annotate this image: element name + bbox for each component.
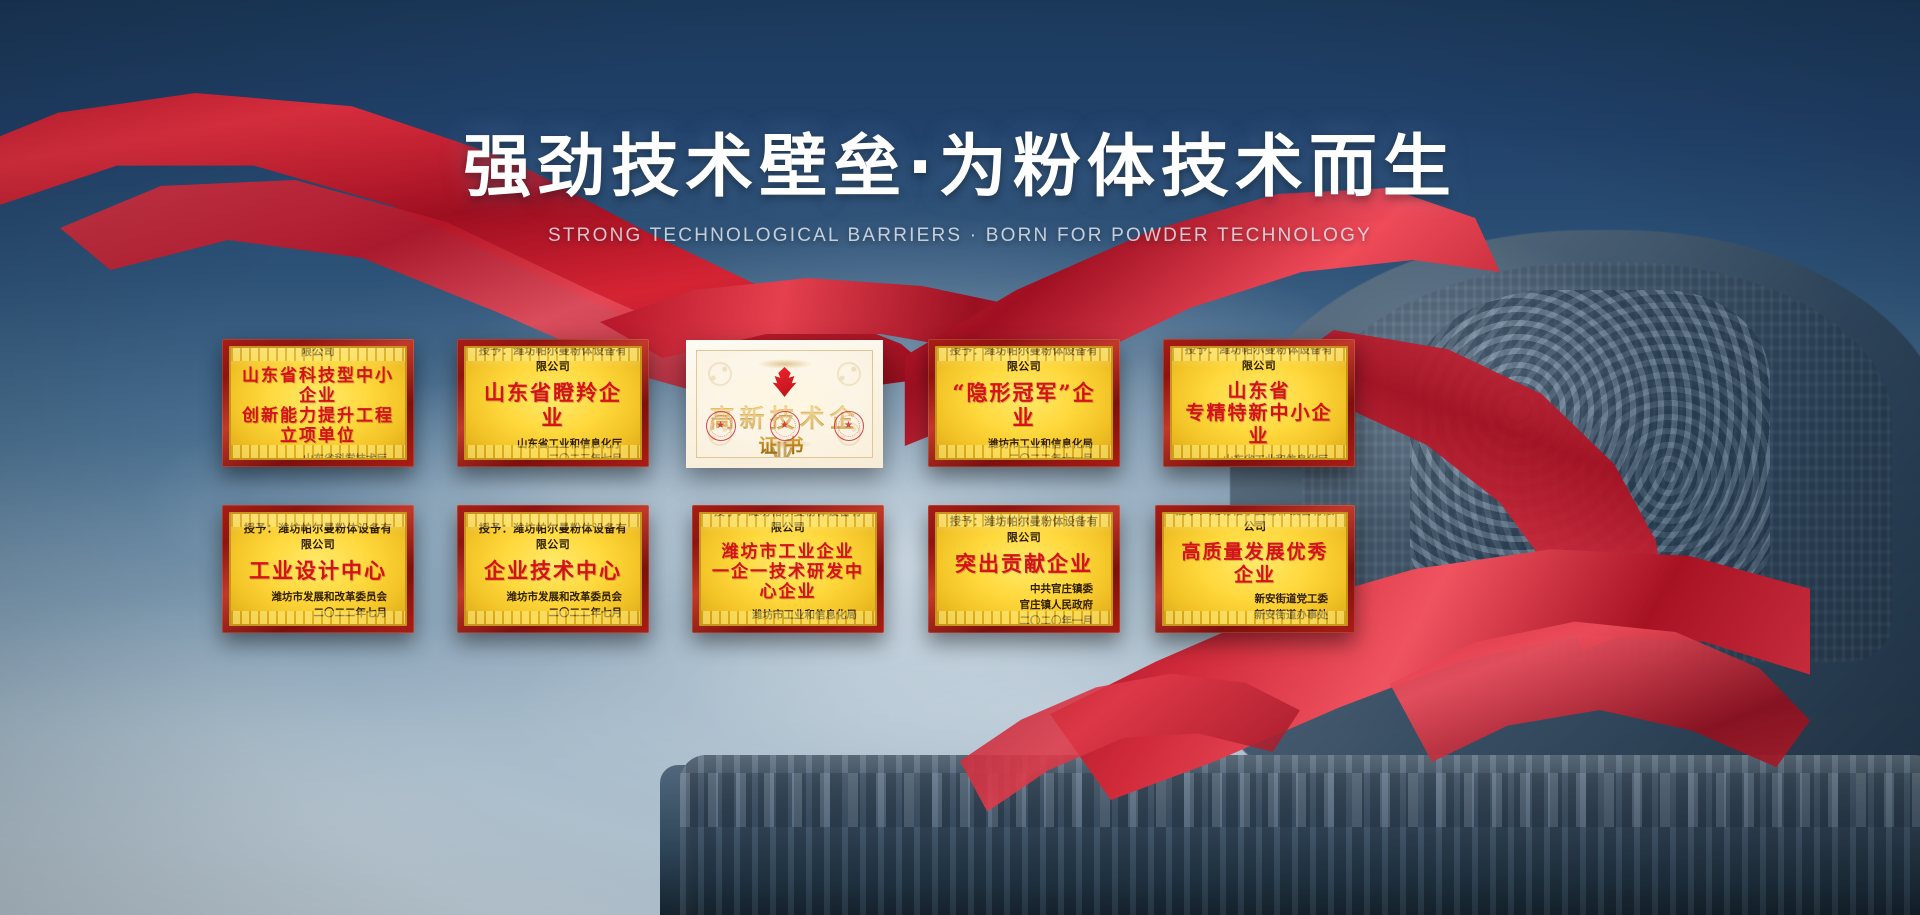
plaque-grant-line: 授予：潍坊帕尔曼粉体设备有限公司	[947, 513, 1101, 545]
plaque-footer: 山东省科学技术厅 二〇二二年十月	[241, 452, 395, 460]
award-plaque[interactable]: 授予：潍坊帕尔曼粉体设备有限公司 工业设计中心 潍坊市发展和改革委员会 二〇二二…	[222, 505, 414, 633]
award-plaque[interactable]: 授予：潍坊帕尔曼粉体设备有限公司 山东省瞪羚企业 山东省工业和信息化厅 二〇二三…	[457, 339, 649, 467]
plaque-title-line: 山东省科技型中小企业	[241, 366, 395, 406]
plaque-title: “隐形冠军”企业	[947, 381, 1101, 431]
plaque-issuer: 潍坊市工业和信息化局	[711, 608, 857, 624]
plaque-footer: 潍坊市工业和信息化局 二〇二二年十一月	[947, 437, 1101, 460]
plaque-date: 二〇二二年七月	[241, 606, 387, 622]
plaque-face: 授予：潍坊帕尔曼粉体设备有限公司 工业设计中心 潍坊市发展和改革委员会 二〇二二…	[229, 512, 407, 626]
plaque-date: 二〇二二年七月	[476, 606, 622, 622]
plaque-issuer: 潍坊市发展和改革委员会	[476, 590, 622, 606]
award-plaque[interactable]: 授予：潍坊帕尔曼粉体设备有限公司 潍坊市工业企业 一企一技术研发中心企业 潍坊市…	[692, 505, 884, 633]
plaque-footer: 山东省工业和信息化厅 二〇二三年七月	[476, 437, 630, 460]
plaque-issuer: 中共官庄镇委	[947, 582, 1093, 598]
plaque-footer: 潍坊市发展和改革委员会 二〇二二年七月	[241, 590, 395, 622]
plaque-date: 二〇二三年二月	[1174, 624, 1328, 626]
plaque-issuer: 潍坊市发展和改革委员会	[241, 590, 387, 606]
plaque-title-line: 山东省	[1182, 380, 1336, 402]
plaque-title-line: 工业设计中心	[241, 559, 395, 584]
plaque-footer: 中共官庄镇委 官庄镇人民政府 二〇二〇年一月	[947, 582, 1101, 626]
plaque-grant-line: 授予：潍坊帕尔曼粉体设备有限公司	[711, 512, 865, 535]
plaque-issuer: 官庄镇人民政府	[947, 598, 1093, 614]
award-plaque[interactable]: 授予：潍坊帕尔曼粉体设备有限公司 山东省 专精特新中小企业 山东省工业和信息化厅	[1163, 339, 1355, 467]
plaque-title: 高质量发展优秀企业	[1174, 541, 1336, 586]
plaque-issuer: 山东省工业和信息化厅	[1182, 453, 1328, 460]
plaque-footer: 山东省工业和信息化厅	[1182, 453, 1336, 460]
official-seal-icon	[770, 411, 800, 441]
plaque-title-line: 潍坊市工业企业	[711, 542, 865, 562]
plaque-grant-line: 授予：潍坊帕尔曼粉体设备有限公司	[1174, 512, 1336, 534]
plaque-face: 授予：潍坊帕尔曼粉体设备有限公司 突出贡献企业 中共官庄镇委 官庄镇人民政府 二…	[935, 512, 1113, 626]
plaque-grant-line: 授予：潍坊帕尔曼粉体设备有限公司	[947, 346, 1101, 374]
plaque-title: 山东省 专精特新中小企业	[1182, 380, 1336, 447]
corner-ornament-icon	[703, 357, 737, 391]
plaque-title: 山东省科技型中小企业 创新能力提升工程立项单位	[241, 366, 395, 446]
plaque-title-line: “隐形冠军”企业	[947, 381, 1101, 431]
plaque-title-line: 企业技术中心	[476, 559, 630, 584]
plaque-title-line: 创新能力提升工程立项单位	[241, 406, 395, 446]
plaque-title: 山东省瞪羚企业	[476, 381, 630, 431]
plaque-title: 工业设计中心	[241, 559, 395, 584]
plaque-face: 授予：潍坊帕尔曼粉体设备有限公司 高质量发展优秀企业 新安街道党工委 新安街道办…	[1162, 512, 1348, 626]
plaque-grant-line: 授予：潍坊帕尔曼粉体设备有限公司	[476, 346, 630, 374]
plaque-title-line: 一企一技术研发中心企业	[711, 562, 865, 602]
official-seal-icon	[834, 411, 864, 441]
plaque-title-line: 突出贡献企业	[947, 552, 1101, 577]
certificate-seals	[697, 411, 872, 441]
plaque-issuer: 新安街道党工委	[1174, 592, 1328, 608]
plaque-issuer: 潍坊市工业和信息化局	[947, 437, 1093, 453]
corner-ornament-icon	[832, 357, 866, 391]
award-plaque[interactable]: 授予：潍坊帕尔曼粉体设备有限公司 山东省科技型中小企业 创新能力提升工程立项单位…	[222, 339, 414, 467]
official-seal-icon	[706, 411, 736, 441]
plaque-title-line: 山东省瞪羚企业	[476, 381, 630, 431]
plaque-grant-line: 授予：潍坊帕尔曼粉体设备有限公司	[1182, 346, 1336, 373]
plaque-footer: 潍坊市工业和信息化局 二〇二二年九月	[711, 608, 865, 626]
page-title: 强劲技术壁垒·为粉体技术而生	[0, 132, 1920, 203]
plaque-date: 二〇二二年九月	[711, 624, 857, 626]
plaque-grant-line: 授予：潍坊帕尔曼粉体设备有限公司	[241, 520, 395, 552]
red-flame-logo-icon	[772, 367, 798, 397]
banner-stage: 强劲技术壁垒·为粉体技术而生 STRONG TECHNOLOGICAL BARR…	[0, 0, 1920, 915]
plaque-footer: 潍坊市发展和改革委员会 二〇二二年七月	[476, 590, 630, 622]
plaque-face: 授予：潍坊帕尔曼粉体设备有限公司 企业技术中心 潍坊市发展和改革委员会 二〇二二…	[464, 512, 642, 626]
plaque-face: 授予：潍坊帕尔曼粉体设备有限公司 山东省 专精特新中小企业 山东省工业和信息化厅	[1170, 346, 1348, 460]
plaque-face: 授予：潍坊帕尔曼粉体设备有限公司 潍坊市工业企业 一企一技术研发中心企业 潍坊市…	[699, 512, 877, 626]
plaque-title-line: 高质量发展优秀企业	[1174, 541, 1336, 586]
hi-tech-certificate[interactable]: 高新技术企业 证书 企业名称：潍坊帕尔曼粉体设备有限公司 证书编号：GR2021…	[686, 340, 883, 468]
plaque-face: 授予：潍坊帕尔曼粉体设备有限公司 山东省科技型中小企业 创新能力提升工程立项单位…	[229, 346, 407, 460]
plaque-grant-line: 授予：潍坊帕尔曼粉体设备有限公司	[241, 346, 395, 359]
plaque-face: 授予：潍坊帕尔曼粉体设备有限公司 “隐形冠军”企业 潍坊市工业和信息化局 二〇二…	[935, 346, 1113, 460]
plaque-title-line: 专精特新中小企业	[1182, 402, 1336, 447]
plaque-date: 二〇二三年七月	[476, 452, 622, 460]
certificate-face: 高新技术企业 证书 企业名称：潍坊帕尔曼粉体设备有限公司 证书编号：GR2021…	[696, 350, 873, 458]
award-plaque[interactable]: 授予：潍坊帕尔曼粉体设备有限公司 企业技术中心 潍坊市发展和改革委员会 二〇二二…	[457, 505, 649, 633]
plaque-issuer: 新安街道办事处	[1174, 608, 1328, 624]
plaque-issuer: 山东省工业和信息化厅	[476, 437, 622, 453]
award-plaque[interactable]: 授予：潍坊帕尔曼粉体设备有限公司 突出贡献企业 中共官庄镇委 官庄镇人民政府 二…	[928, 505, 1120, 633]
plaque-footer: 新安街道党工委 新安街道办事处 二〇二三年二月	[1174, 592, 1336, 626]
plaque-title: 潍坊市工业企业 一企一技术研发中心企业	[711, 542, 865, 602]
page-subtitle: STRONG TECHNOLOGICAL BARRIERS · BORN FOR…	[0, 225, 1920, 247]
plaque-grant-line: 授予：潍坊帕尔曼粉体设备有限公司	[476, 520, 630, 552]
plaque-date: 二〇二〇年一月	[947, 614, 1093, 626]
award-plaque[interactable]: 授予：潍坊帕尔曼粉体设备有限公司 “隐形冠军”企业 潍坊市工业和信息化局 二〇二…	[928, 339, 1120, 467]
plaque-issuer: 山东省科学技术厅	[241, 452, 387, 460]
plaque-date: 二〇二二年十一月	[947, 452, 1093, 460]
plaque-title: 企业技术中心	[476, 559, 630, 584]
plaque-title: 突出贡献企业	[947, 552, 1101, 577]
plaque-face: 授予：潍坊帕尔曼粉体设备有限公司 山东省瞪羚企业 山东省工业和信息化厅 二〇二三…	[464, 346, 642, 460]
award-plaque[interactable]: 授予：潍坊帕尔曼粉体设备有限公司 高质量发展优秀企业 新安街道党工委 新安街道办…	[1155, 505, 1355, 633]
hero-heading-block: 强劲技术壁垒·为粉体技术而生 STRONG TECHNOLOGICAL BARR…	[0, 132, 1920, 247]
